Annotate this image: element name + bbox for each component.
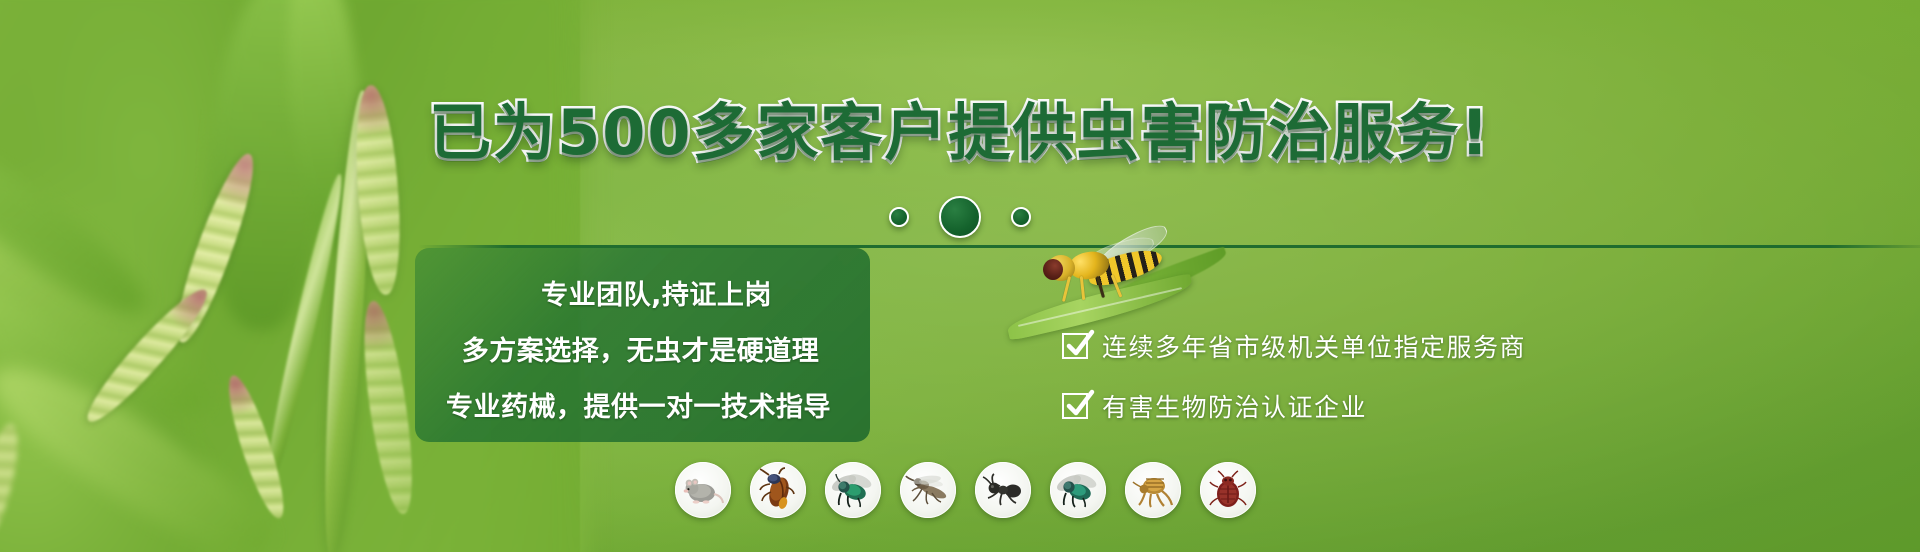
fly-icon[interactable] bbox=[825, 462, 881, 518]
mosquito-icon[interactable] bbox=[900, 462, 956, 518]
credential-text: 有害生物防治认证企业 bbox=[1102, 388, 1367, 424]
hoverfly-icon bbox=[1041, 238, 1167, 300]
checkbox-check-icon bbox=[1062, 333, 1088, 359]
flea-icon[interactable] bbox=[1125, 462, 1181, 518]
decorative-dot-small bbox=[1011, 207, 1031, 227]
decorative-dot-small bbox=[889, 207, 909, 227]
decorative-dot-large bbox=[939, 196, 981, 238]
pest-control-hero-banner: 已为500多家客户提供虫害防治服务! 专业团队,持证上岗 多方案选择，无虫才是硬… bbox=[0, 0, 1920, 552]
claim-line-2: 多方案选择，无虫才是硬道理 bbox=[427, 329, 850, 368]
claim-line-1: 专业团队,持证上岗 bbox=[427, 273, 850, 312]
rodent-icon[interactable] bbox=[675, 462, 731, 518]
claims-panel: 专业团队,持证上岗 多方案选择，无虫才是硬道理 专业药械，提供一对一技术指导 bbox=[415, 248, 870, 442]
fly-eye bbox=[1043, 259, 1063, 280]
pest-icon-row bbox=[675, 462, 1256, 518]
credentials-list: 连续多年省市级机关单位指定服务商 有害生物防治认证企业 bbox=[1062, 328, 1526, 424]
page-title-text: 已为500多家客户提供虫害防治服务! bbox=[429, 96, 1491, 169]
bedbug-icon[interactable] bbox=[1200, 462, 1256, 518]
claim-line-3: 专业药械，提供一对一技术指导 bbox=[427, 385, 850, 424]
list-item: 有害生物防治认证企业 bbox=[1062, 388, 1526, 424]
credential-text: 连续多年省市级机关单位指定服务商 bbox=[1102, 328, 1526, 364]
cockroach-icon[interactable] bbox=[750, 462, 806, 518]
blowfly-icon[interactable] bbox=[1050, 462, 1106, 518]
ant-icon[interactable] bbox=[975, 462, 1031, 518]
hoverfly-illustration bbox=[1005, 232, 1215, 332]
page-title: 已为500多家客户提供虫害防治服务! bbox=[0, 82, 1920, 172]
list-item: 连续多年省市级机关单位指定服务商 bbox=[1062, 328, 1526, 364]
checkbox-check-icon bbox=[1062, 393, 1088, 419]
decorative-dots bbox=[0, 196, 1920, 238]
